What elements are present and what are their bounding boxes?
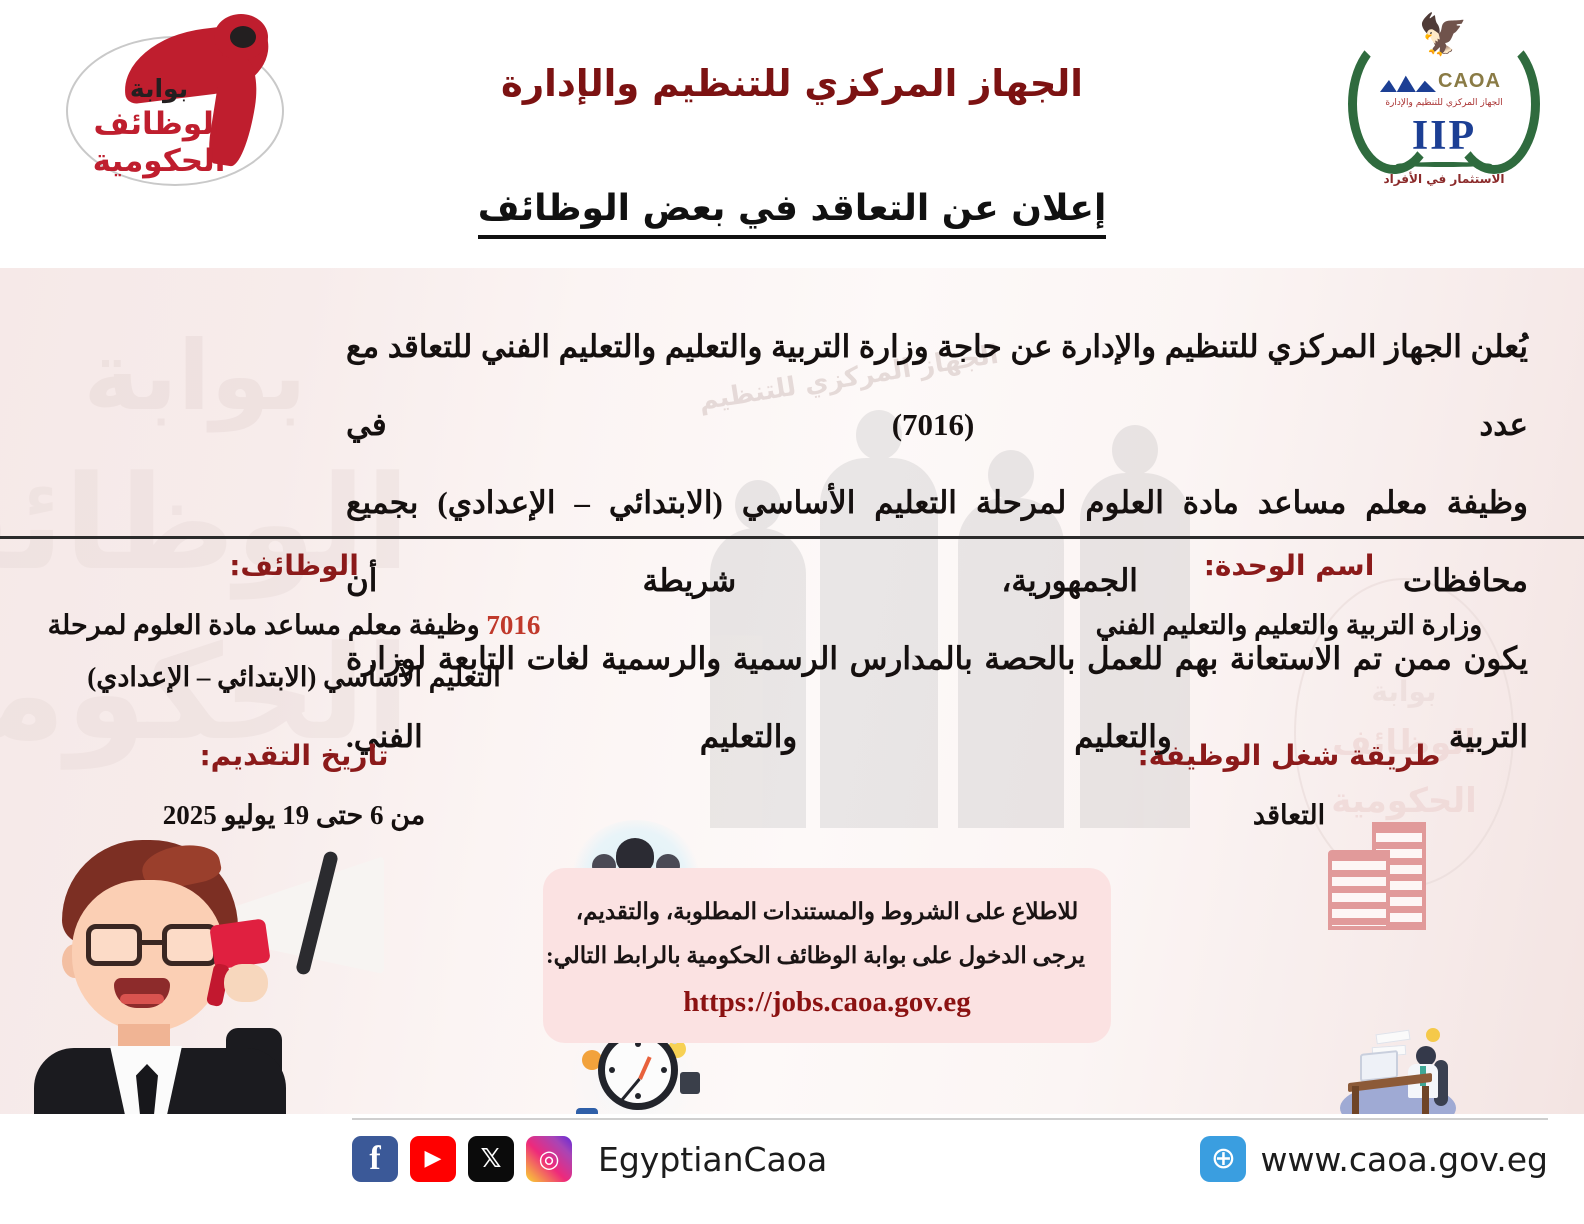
field-jobs: الوظائف: 7016 وظيفة معلم مساعد مادة العل…	[44, 548, 544, 703]
iip-underline	[1396, 162, 1492, 167]
jobs-value: 7016 وظيفة معلم مساعد مادة العلوم لمرحلة…	[44, 599, 544, 703]
application-date-label: تاريخ التقديم:	[44, 738, 544, 773]
social-handle: EgyptianCaoa	[598, 1140, 827, 1179]
caoa-abbreviation: CAOA	[1438, 70, 1501, 93]
unit-name-value: وزارة التربية والتعليم والتعليم الفني	[1054, 599, 1524, 651]
intro-line-1: يُعلن الجهاز المركزي للتنظيم والإدارة عن…	[346, 308, 1528, 464]
iip-arabic-name: الاستثمار في الأفراد	[1344, 172, 1544, 186]
job-announcement-poster: بوابة الوظائف الحكومية بوابة الوظائف الح…	[0, 0, 1584, 1224]
iip-abbreviation: IIP	[1344, 112, 1544, 160]
x-twitter-icon[interactable]: 𝕏	[468, 1136, 514, 1182]
website-url: www.caoa.gov.eg	[1260, 1140, 1548, 1179]
poster-footer: f ▶ 𝕏 ◎ EgyptianCaoa ⊕ www.caoa.gov.eg	[0, 1114, 1584, 1224]
caoa-mark: CAOA	[1380, 70, 1508, 96]
portal-logo-line2: الوظائف	[24, 109, 294, 140]
employment-method-value: التعاقد	[1054, 789, 1524, 841]
eagle-emblem-icon: 🦅	[1420, 14, 1468, 56]
jobs-count: 7016	[486, 610, 540, 640]
note-line-1: للاطلاع على الشروط والمستندات المطلوبة، …	[569, 890, 1085, 934]
instagram-icon[interactable]: ◎	[526, 1136, 572, 1182]
field-employment-method: طريقة شغل الوظيفة: التعاقد	[1054, 738, 1524, 841]
field-application-date: تاريخ التقديم: من 6 حتى 19 يوليو 2025	[44, 738, 544, 841]
note-line-2: يرجى الدخول على بوابة الوظائف الحكومية ب…	[569, 934, 1085, 978]
poster-header: بوابة الوظائف الحكومية الجهاز المركزي لل…	[0, 0, 1584, 268]
youtube-icon[interactable]: ▶	[410, 1136, 456, 1182]
megaphone-announcer-illustration	[10, 828, 410, 1124]
jobs-value-line1: وظيفة معلم مساعد مادة العلوم لمرحلة	[48, 610, 480, 640]
office-worker-desk-icon	[1330, 1016, 1466, 1114]
employment-method-label: طريقة شغل الوظيفة:	[1054, 738, 1524, 773]
footer-divider	[352, 1118, 1548, 1120]
jobs-value-line2: التعليم الأساسي (الابتدائي – الإعدادي)	[87, 662, 500, 692]
announcement-subtitle-text: إعلان عن التعاقد في بعض الوظائف	[478, 188, 1107, 239]
jobs-label: الوظائف:	[44, 548, 544, 583]
social-media-links: f ▶ 𝕏 ◎ EgyptianCaoa	[352, 1136, 827, 1182]
unit-name-label: اسم الوحدة:	[1054, 548, 1524, 583]
application-portal-url[interactable]: https://jobs.caoa.gov.eg	[569, 986, 1085, 1019]
announcement-paragraph: يُعلن الجهاز المركزي للتنظيم والإدارة عن…	[346, 308, 1528, 776]
caoa-arabic-name: الجهاز المركزي للتنظيم والإدارة	[1368, 98, 1520, 108]
globe-icon: ⊕	[1200, 1136, 1246, 1182]
caoa-peaks-icon	[1380, 72, 1436, 92]
portal-logo-line3: الحكومية	[24, 146, 294, 177]
section-divider	[0, 536, 1584, 539]
application-instructions-box: للاطلاع على الشروط والمستندات المطلوبة، …	[543, 868, 1111, 1043]
ministry-building-icon	[1318, 816, 1438, 938]
caoa-iip-seal-logo: 🦅 CAOA الجهاز المركزي للتنظيم والإدارة I…	[1344, 12, 1544, 202]
website-link[interactable]: ⊕ www.caoa.gov.eg	[1200, 1136, 1548, 1182]
facebook-icon[interactable]: f	[352, 1136, 398, 1182]
field-unit-name: اسم الوحدة: وزارة التربية والتعليم والتع…	[1054, 548, 1524, 651]
